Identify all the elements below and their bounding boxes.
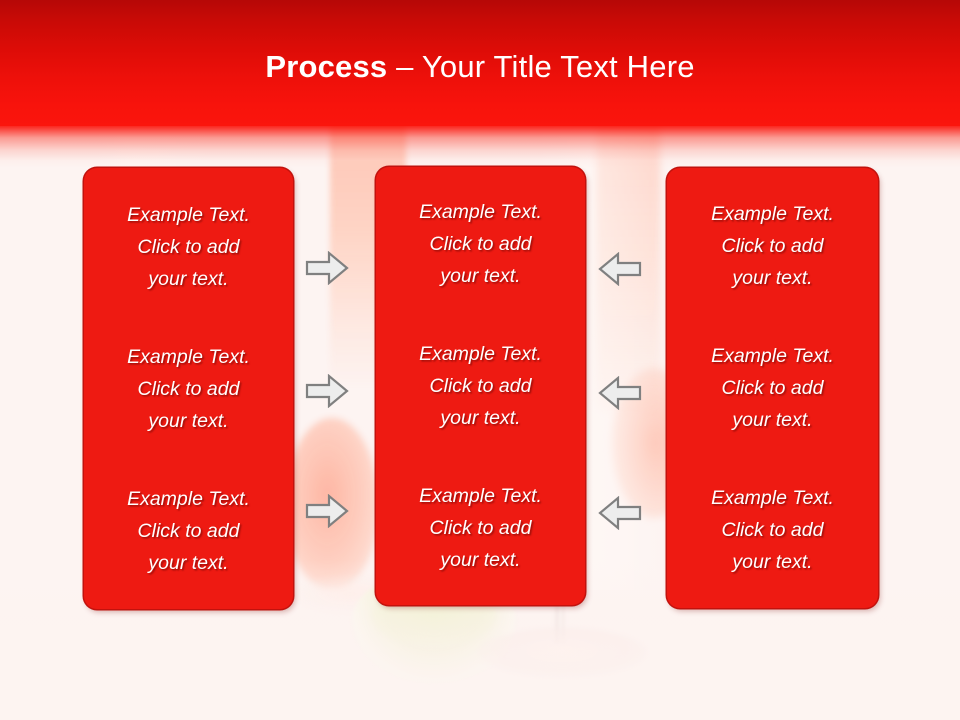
- header-fade: [0, 126, 960, 168]
- process-cell-text: Example Text. Click to add your text.: [123, 483, 254, 579]
- process-cell-text: Example Text. Click to add your text.: [123, 199, 254, 295]
- process-column-middle[interactable]: Example Text. Click to add your text. Ex…: [376, 167, 585, 605]
- process-cell[interactable]: Example Text. Click to add your text.: [96, 339, 281, 439]
- process-cell-text: Example Text. Click to add your text.: [415, 480, 546, 576]
- process-cell-text: Example Text. Click to add your text.: [415, 196, 546, 292]
- arrow-right-icon: [305, 374, 349, 408]
- arrow-right-icon: [305, 494, 349, 528]
- process-column-left[interactable]: Example Text. Click to add your text. Ex…: [84, 168, 293, 609]
- process-cell[interactable]: Example Text. Click to add your text.: [388, 194, 573, 294]
- process-cell-text: Example Text. Click to add your text.: [707, 482, 838, 578]
- slide-canvas: Process – Your Title Text Here Example T…: [0, 0, 960, 720]
- process-cell-text: Example Text. Click to add your text.: [707, 340, 838, 436]
- process-cell[interactable]: Example Text. Click to add your text.: [96, 197, 281, 297]
- page-title-bold: Process: [265, 49, 387, 84]
- process-cell[interactable]: Example Text. Click to add your text.: [388, 478, 573, 578]
- arrow-left-icon: [598, 496, 642, 530]
- arrow-right-icon: [305, 251, 349, 285]
- arrow-left-icon: [598, 376, 642, 410]
- process-cell[interactable]: Example Text. Click to add your text.: [679, 196, 866, 296]
- process-cell[interactable]: Example Text. Click to add your text.: [679, 338, 866, 438]
- process-cell[interactable]: Example Text. Click to add your text.: [679, 480, 866, 580]
- process-cell[interactable]: Example Text. Click to add your text.: [388, 336, 573, 436]
- process-cell[interactable]: Example Text. Click to add your text.: [96, 481, 281, 581]
- page-title: Process – Your Title Text Here: [0, 48, 960, 86]
- process-cell-text: Example Text. Click to add your text.: [123, 341, 254, 437]
- process-column-right[interactable]: Example Text. Click to add your text. Ex…: [667, 168, 878, 608]
- process-cell-text: Example Text. Click to add your text.: [415, 338, 546, 434]
- arrow-left-icon: [598, 252, 642, 286]
- page-title-rest: – Your Title Text Here: [387, 49, 694, 84]
- process-cell-text: Example Text. Click to add your text.: [707, 198, 838, 294]
